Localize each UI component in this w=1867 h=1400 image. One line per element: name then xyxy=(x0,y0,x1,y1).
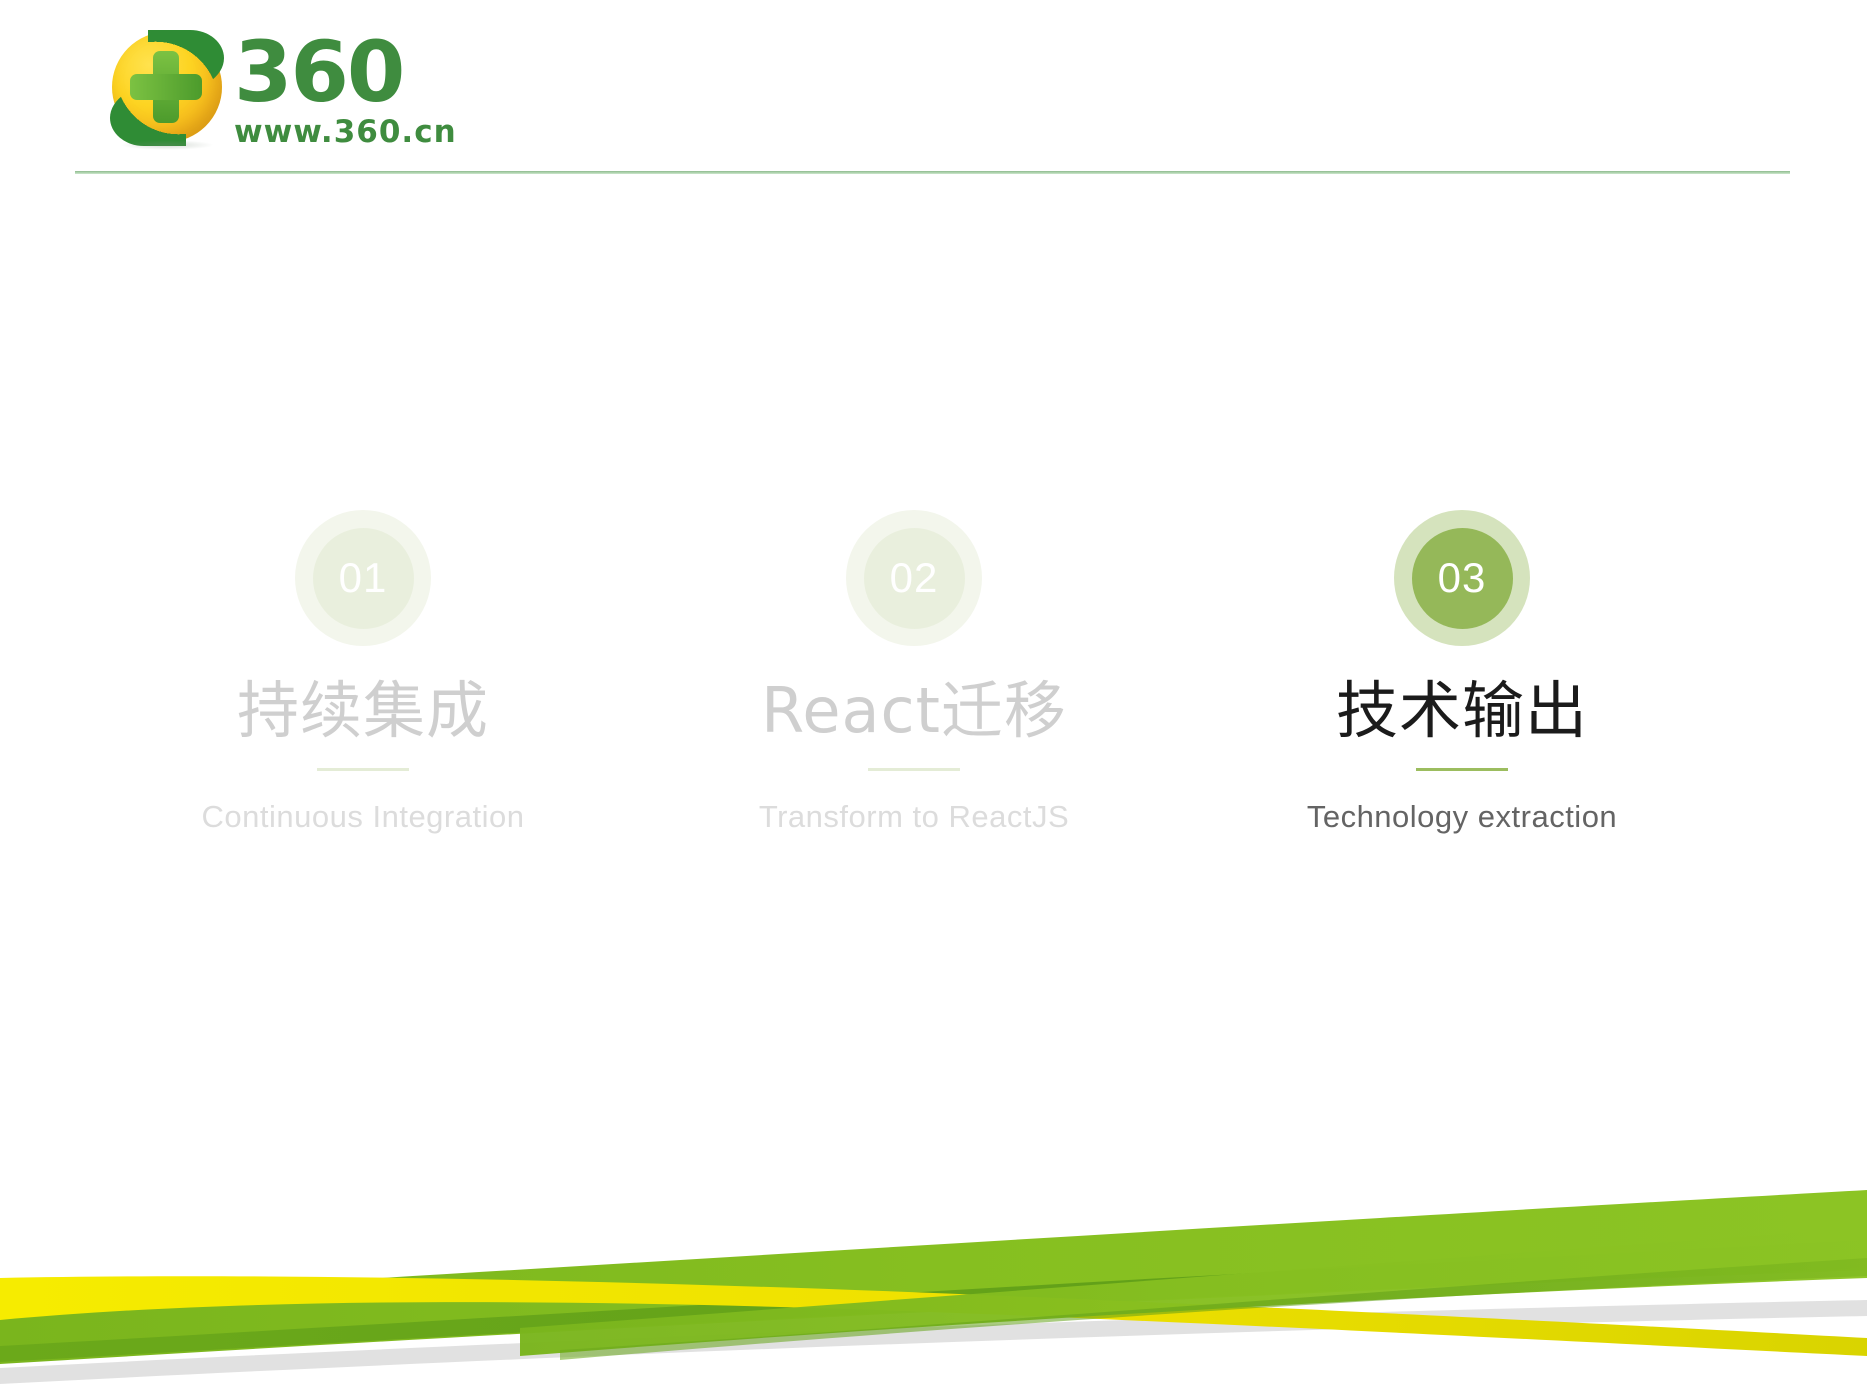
slide-header: 360 www.360.cn xyxy=(0,0,1867,190)
brand-logo: 360 www.360.cn xyxy=(108,22,478,152)
step-title: 技术输出 xyxy=(1232,676,1692,746)
step-item-continuous-integration[interactable]: 01 持续集成 Continuous Integration xyxy=(133,510,593,835)
step-badge-ring: 01 xyxy=(295,510,431,646)
step-divider xyxy=(868,768,960,771)
step-subtitle: Transform to ReactJS xyxy=(684,799,1144,835)
slide-canvas: 360 www.360.cn 01 持续集成 Continuous Integr… xyxy=(0,0,1867,1400)
logo-drop-shadow xyxy=(120,140,214,150)
step-number: 03 xyxy=(1412,528,1513,629)
step-indicator-group: 01 持续集成 Continuous Integration 02 React迁… xyxy=(0,510,1867,930)
step-badge-ring: 02 xyxy=(846,510,982,646)
step-item-technology-extraction[interactable]: 03 技术输出 Technology extraction xyxy=(1232,510,1692,835)
brand-wordmark-text: 360 xyxy=(234,30,484,114)
step-item-react-migration[interactable]: 02 React迁移 Transform to ReactJS xyxy=(684,510,1144,835)
step-subtitle: Continuous Integration xyxy=(133,799,593,835)
step-number: 01 xyxy=(313,528,414,629)
step-badge-ring: 03 xyxy=(1394,510,1530,646)
step-subtitle: Technology extraction xyxy=(1232,799,1692,835)
header-divider xyxy=(75,171,1790,174)
step-number: 02 xyxy=(864,528,965,629)
step-divider xyxy=(1416,768,1508,771)
brand-url-text: www.360.cn xyxy=(234,116,484,149)
step-title: 持续集成 xyxy=(133,676,593,746)
brand-wordmark: 360 www.360.cn xyxy=(234,30,484,150)
logo-cross-icon-bar xyxy=(130,74,202,100)
step-title: React迁移 xyxy=(684,676,1144,746)
step-divider xyxy=(317,768,409,771)
360-shield-sphere-logo-icon xyxy=(108,28,226,146)
wave-ribbon-decoration-icon xyxy=(0,1150,1867,1400)
